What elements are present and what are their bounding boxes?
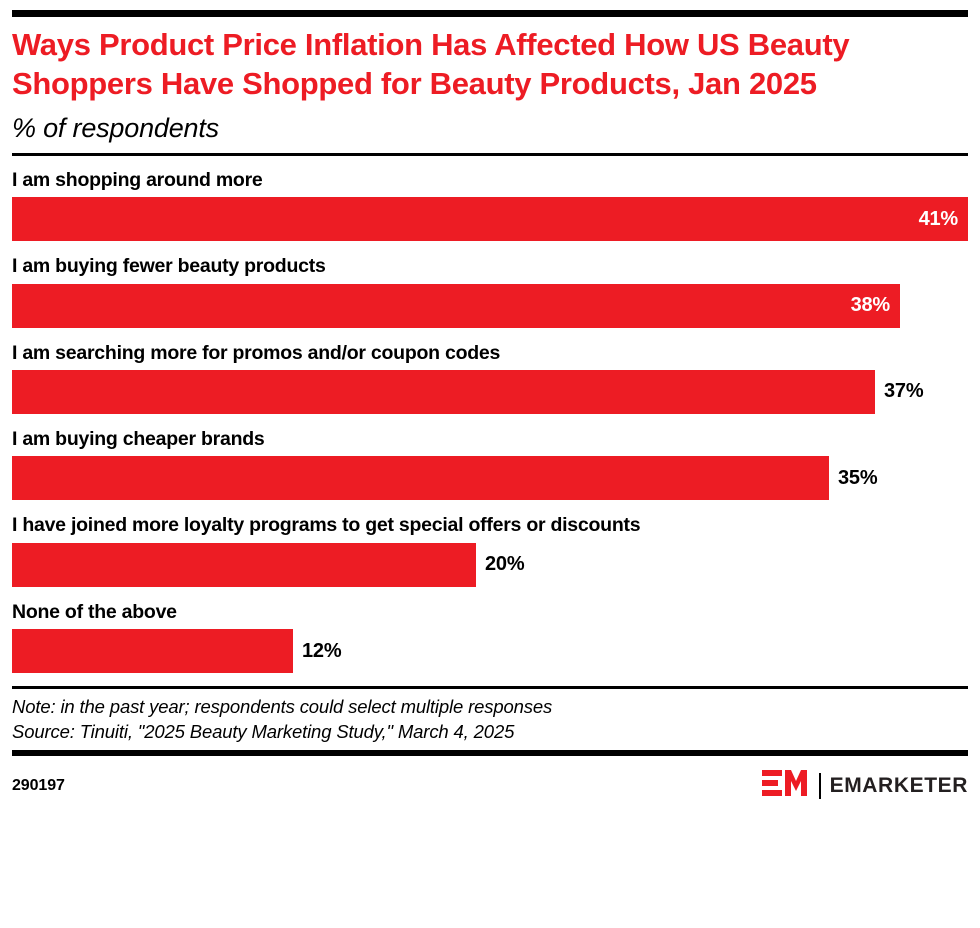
bar-row: I am buying cheaper brands35%: [12, 427, 968, 500]
bar-value-label: 12%: [293, 640, 341, 663]
bar-row: I am buying fewer beauty products38%: [12, 254, 968, 327]
bar-category-label: I am buying cheaper brands: [12, 427, 968, 451]
chart-footer: 290197 EMARKETER: [12, 756, 968, 803]
bar-value-label: 41%: [919, 208, 968, 231]
bar-value-label: 20%: [476, 553, 524, 576]
bar-row: I have joined more loyalty programs to g…: [12, 513, 968, 586]
bar-category-label: I am searching more for promos and/or co…: [12, 341, 968, 365]
bar-track: 37%: [12, 370, 968, 414]
bar-row: None of the above12%: [12, 600, 968, 673]
brand-divider: [819, 773, 821, 799]
chart-header: Ways Product Price Inflation Has Affecte…: [12, 17, 968, 146]
bar-fill: [12, 370, 875, 414]
bar-track: 35%: [12, 456, 968, 500]
chart-note: Note: in the past year; respondents coul…: [12, 695, 968, 720]
bar-fill: 41%: [12, 197, 968, 241]
bar-track: 41%: [12, 197, 968, 241]
bar-value-label: 38%: [851, 294, 900, 317]
bar-track: 20%: [12, 543, 968, 587]
chart-card: Ways Product Price Inflation Has Affecte…: [0, 10, 980, 928]
bar-fill: 38%: [12, 284, 900, 328]
page-title: Ways Product Price Inflation Has Affecte…: [12, 25, 968, 104]
bar-fill: [12, 456, 829, 500]
bar-row: I am searching more for promos and/or co…: [12, 341, 968, 414]
bar-value-label: 37%: [875, 380, 923, 403]
bar-category-label: I have joined more loyalty programs to g…: [12, 513, 968, 537]
bar-track: 38%: [12, 284, 968, 328]
bar-category-label: I am shopping around more: [12, 168, 968, 192]
chart-subtitle: % of respondents: [12, 111, 968, 146]
bar-category-label: None of the above: [12, 600, 968, 624]
bar-chart-plot-area: I am shopping around more41%I am buying …: [12, 156, 968, 673]
bar-track: 12%: [12, 629, 968, 673]
chart-id: 290197: [12, 777, 65, 795]
bar-value-label: 35%: [829, 467, 877, 490]
bar-fill: [12, 629, 293, 673]
brand-name: EMARKETER: [830, 774, 968, 798]
bar-category-label: I am buying fewer beauty products: [12, 254, 968, 278]
brand-lockup: EMARKETER: [762, 768, 968, 803]
chart-source: Source: Tinuiti, "2025 Beauty Marketing …: [12, 720, 968, 745]
bar-fill: [12, 543, 476, 587]
bar-row: I am shopping around more41%: [12, 168, 968, 241]
top-rule: [12, 10, 968, 17]
em-logo-icon: [762, 768, 810, 803]
chart-footnotes: Note: in the past year; respondents coul…: [12, 689, 968, 750]
